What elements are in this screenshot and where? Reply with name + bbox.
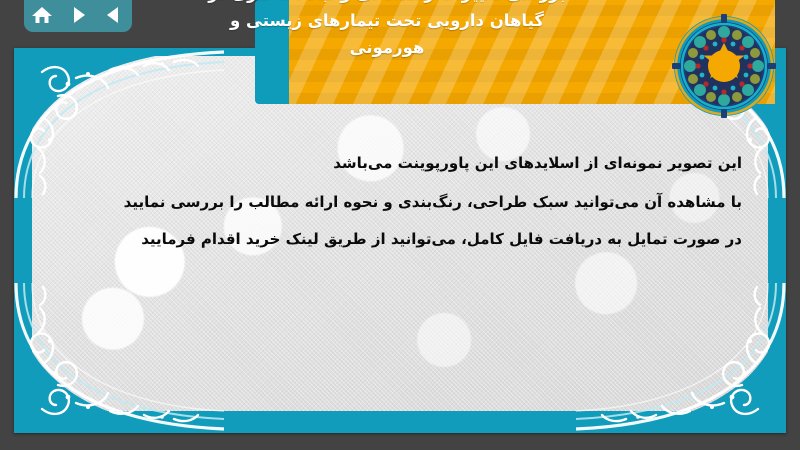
body-line-2: با مشاهده آن می‌توانید سبک طراحی، رنگ‌بن…: [62, 187, 742, 217]
home-button[interactable]: [29, 3, 55, 27]
back-icon: [104, 5, 124, 25]
slide-frame: این تصویر نمونه‌ای از اسلایدهای این پاور…: [14, 48, 786, 433]
title-line-3: هورمونی: [8, 34, 766, 61]
persian-medallion-icon: [672, 14, 776, 118]
slide-body: این تصویر نمونه‌ای از اسلایدهای این پاور…: [62, 148, 742, 261]
navigation-bar: [24, 0, 132, 32]
back-button[interactable]: [101, 3, 127, 27]
forward-button[interactable]: [65, 3, 91, 27]
slide-content-panel: این تصویر نمونه‌ای از اسلایدهای این پاور…: [32, 56, 768, 411]
slide-viewer: این تصویر نمونه‌ای از اسلایدهای این پاور…: [0, 0, 800, 450]
body-line-3: در صورت تمایل به دریافت فایل کامل، می‌تو…: [62, 224, 742, 254]
forward-icon: [68, 5, 88, 25]
body-line-1: این تصویر نمونه‌ای از اسلایدهای این پاور…: [62, 148, 742, 178]
home-icon: [31, 5, 53, 25]
